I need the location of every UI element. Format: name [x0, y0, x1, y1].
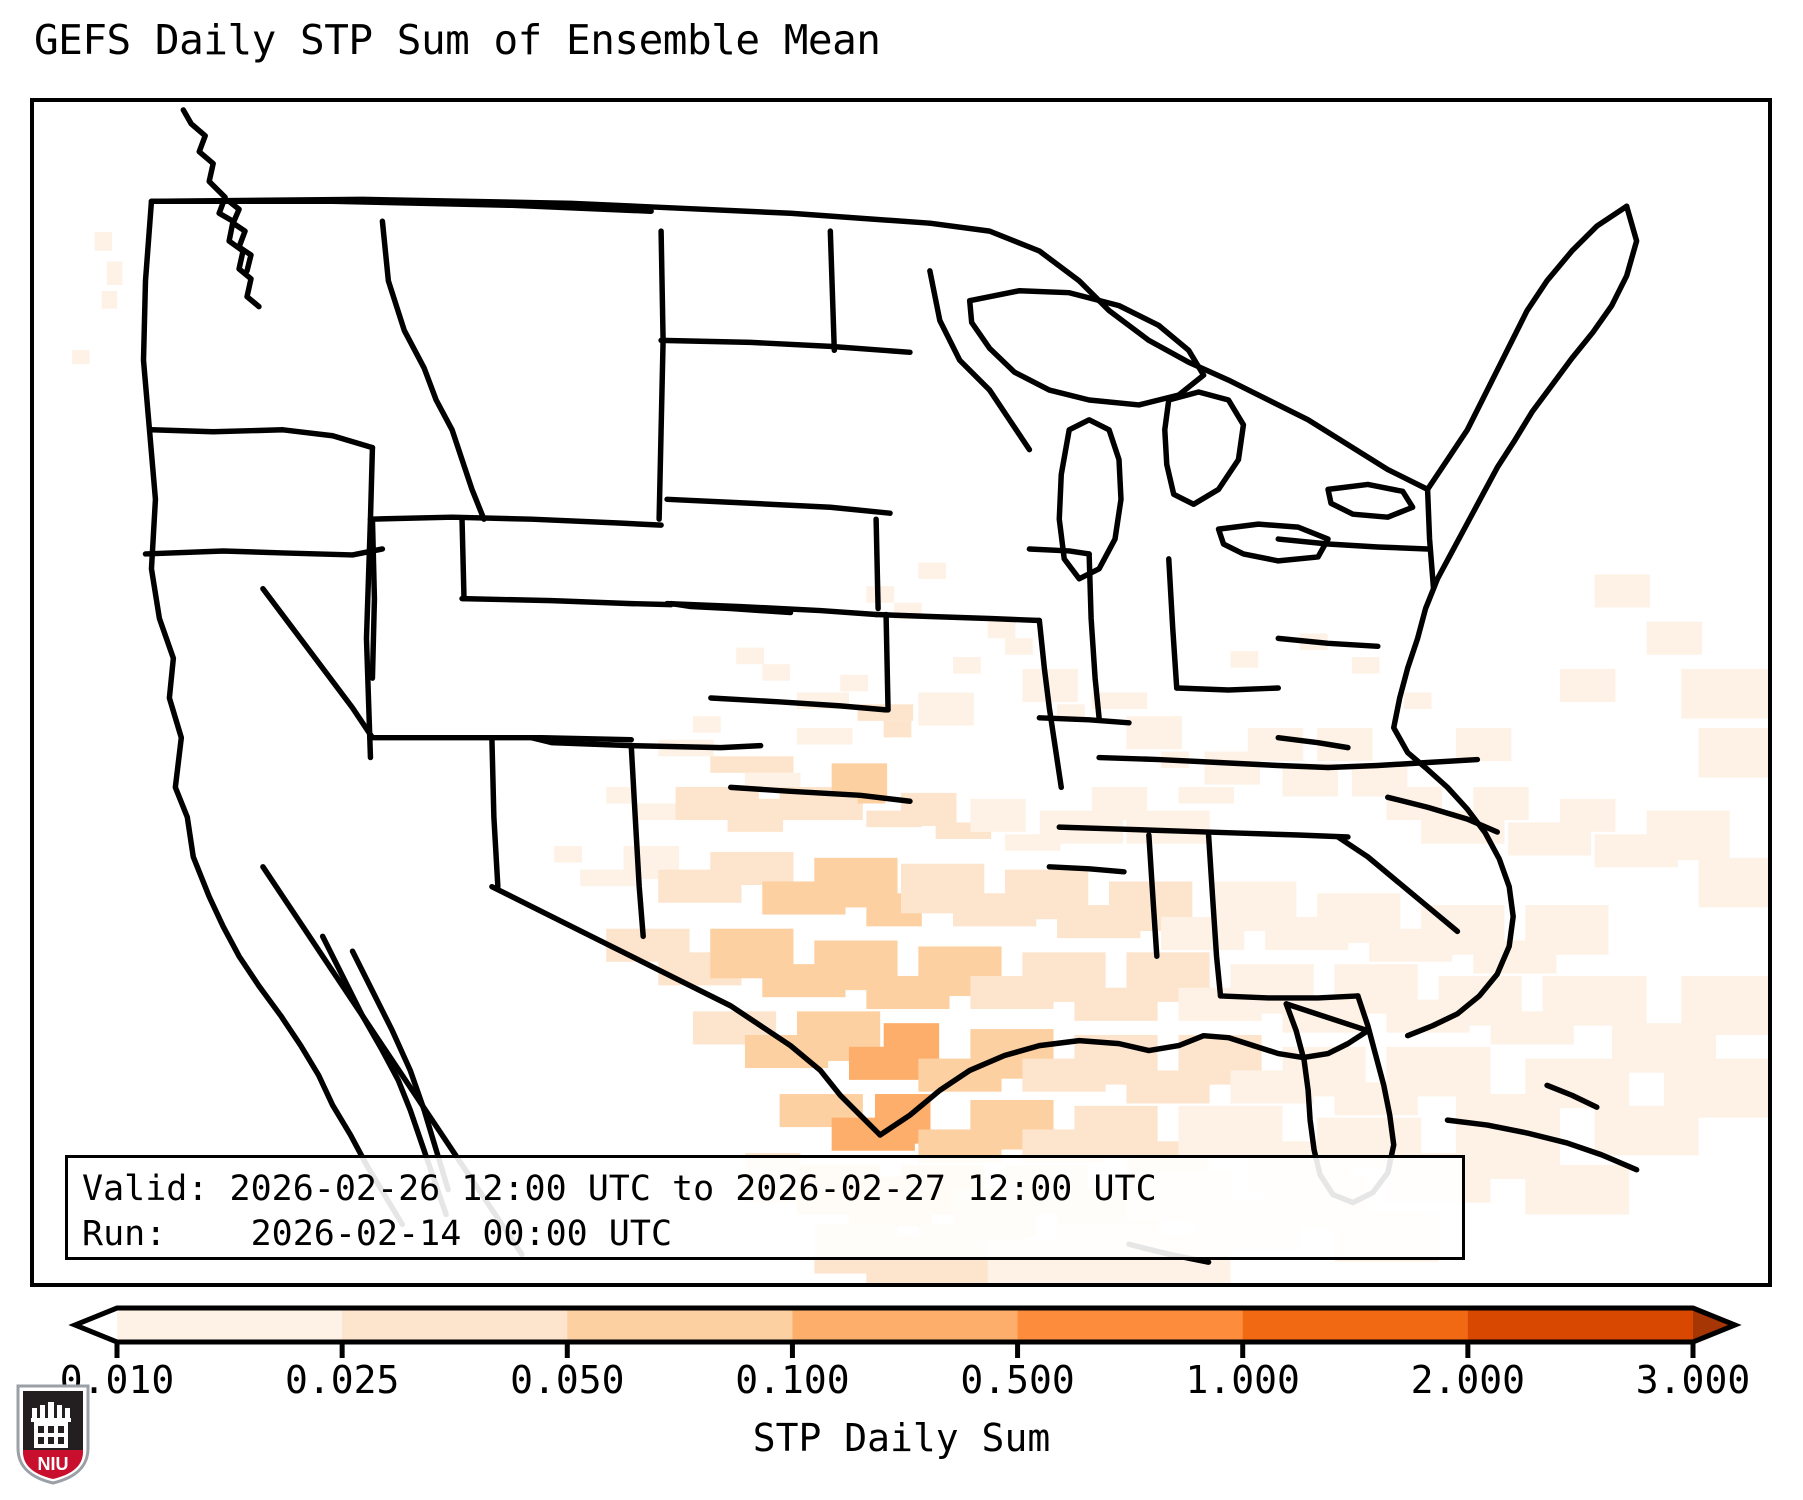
- coastline-pacific-nw: [183, 110, 259, 307]
- state-border-al-ga: [1209, 835, 1221, 996]
- coastline-gulf-coast-east: [1253, 1004, 1367, 1058]
- colorbar-tick-label: 0.025: [285, 1358, 399, 1402]
- state-border-ky-tn: [1099, 758, 1328, 768]
- state-border-ok-tx: [731, 787, 910, 801]
- state-border-ks-ok: [711, 698, 886, 710]
- state-border-pa-md: [1278, 638, 1378, 646]
- state-border-il-in: [1089, 554, 1099, 718]
- state-border-wi-il: [1029, 549, 1089, 554]
- colorbar-band: [792, 1308, 1018, 1342]
- colorbar-title: STP Daily Sum: [0, 1416, 1803, 1460]
- border-great-lakes-canada: [930, 223, 1428, 489]
- valid-line: Valid: 2026-02-26 12:00 UTC to 2026-02-2…: [82, 1167, 1448, 1212]
- colorbar-tick-label: 2.000: [1411, 1358, 1525, 1402]
- niu-logo: NIU: [14, 1382, 92, 1486]
- colorbar-band: [117, 1308, 343, 1342]
- colorbar-band: [342, 1308, 568, 1342]
- state-border-il-mo-river: [1039, 620, 1061, 787]
- state-border-in-oh: [1169, 559, 1177, 688]
- state-border-mt-wy: [370, 517, 661, 525]
- state-border-nd-sd: [661, 340, 910, 352]
- border-us-canada-49: [151, 199, 929, 223]
- coastline-texas-gulf: [880, 1036, 1253, 1135]
- state-border-ne-ia: [876, 519, 878, 608]
- state-border-nd-mn: [830, 231, 834, 350]
- colorbar-tick-label: 1.000: [1186, 1358, 1300, 1402]
- colorbar-band: [1468, 1308, 1694, 1342]
- run-line: Run: 2026-02-14 00:00 UTC: [82, 1212, 1448, 1257]
- colorbar-tick-label: 0.500: [960, 1358, 1074, 1402]
- state-border-ky-va: [1278, 738, 1348, 748]
- state-border-tn-ms-al: [1059, 827, 1348, 837]
- lake-ontario: [1328, 484, 1413, 517]
- state-border-va-nc: [1328, 760, 1477, 768]
- coastline-canada-ne: [1428, 206, 1627, 489]
- state-border-nv-ca: [263, 589, 372, 738]
- state-border-id-west: [366, 448, 372, 758]
- state-border-nv-ut: [372, 519, 374, 678]
- state-border-id-mt: [382, 221, 484, 519]
- coastline-bahamas: [1547, 1085, 1597, 1107]
- page-title: GEFS Daily STP Sum of Ensemble Mean: [34, 16, 880, 64]
- state-border-ut-wy: [462, 519, 464, 598]
- state-border-sd-ne: [667, 499, 890, 513]
- river-rio-grande: [492, 887, 880, 1135]
- state-border-oh-wv-pa: [1177, 688, 1279, 690]
- colorbar-tick-label: 3.000: [1636, 1358, 1750, 1402]
- geography-layer: [34, 102, 1768, 1283]
- state-border-ar-la: [1049, 867, 1124, 872]
- map-canvas: Valid: 2026-02-26 12:00 UTC to 2026-02-2…: [34, 102, 1768, 1283]
- colorbar-band: [1018, 1308, 1244, 1342]
- map-figure: GEFS Daily STP Sum of Ensemble Mean: [0, 0, 1803, 1500]
- state-border-ia-mo: [876, 615, 1039, 621]
- state-border-ny-ne: [1428, 489, 1434, 588]
- valid-run-infobox: Valid: 2026-02-26 12:00 UTC to 2026-02-2…: [65, 1155, 1465, 1260]
- colorbar-band: [1243, 1308, 1469, 1342]
- logo-text: NIU: [38, 1454, 69, 1474]
- colorbar-tick-label: 0.050: [510, 1358, 624, 1402]
- state-border-az-nm: [492, 738, 498, 887]
- coastline-cuba: [1447, 1120, 1636, 1170]
- state-border-ut-az: [374, 738, 631, 740]
- colorbar[interactable]: [0, 1300, 1803, 1360]
- state-border-wa-or: [151, 430, 372, 448]
- state-border-wy-co: [462, 599, 671, 605]
- state-border-sc-ga: [1338, 837, 1457, 931]
- state-border-or-ca: [145, 549, 382, 555]
- colorbar-band: [567, 1308, 793, 1342]
- state-border-ga-fl: [1221, 996, 1358, 998]
- colorbar-svg[interactable]: [0, 1300, 1803, 1360]
- map-panel[interactable]: Valid: 2026-02-26 12:00 UTC to 2026-02-2…: [30, 98, 1772, 1287]
- lake-huron: [1165, 392, 1244, 504]
- colorbar-tick-labels: 0.0100.0250.0500.1000.5001.0002.0003.000: [0, 1358, 1803, 1408]
- coastline-west-or-ca: [143, 201, 402, 1224]
- state-border-ms-al: [1149, 835, 1157, 956]
- state-border-pa-ny: [1278, 539, 1427, 549]
- colorbar-tick-label: 0.100: [735, 1358, 849, 1402]
- state-border-mt-nd: [659, 231, 663, 519]
- state-border-ks-mo: [886, 615, 888, 710]
- lake-superior: [970, 291, 1204, 405]
- state-border-nm-tx: [631, 746, 643, 937]
